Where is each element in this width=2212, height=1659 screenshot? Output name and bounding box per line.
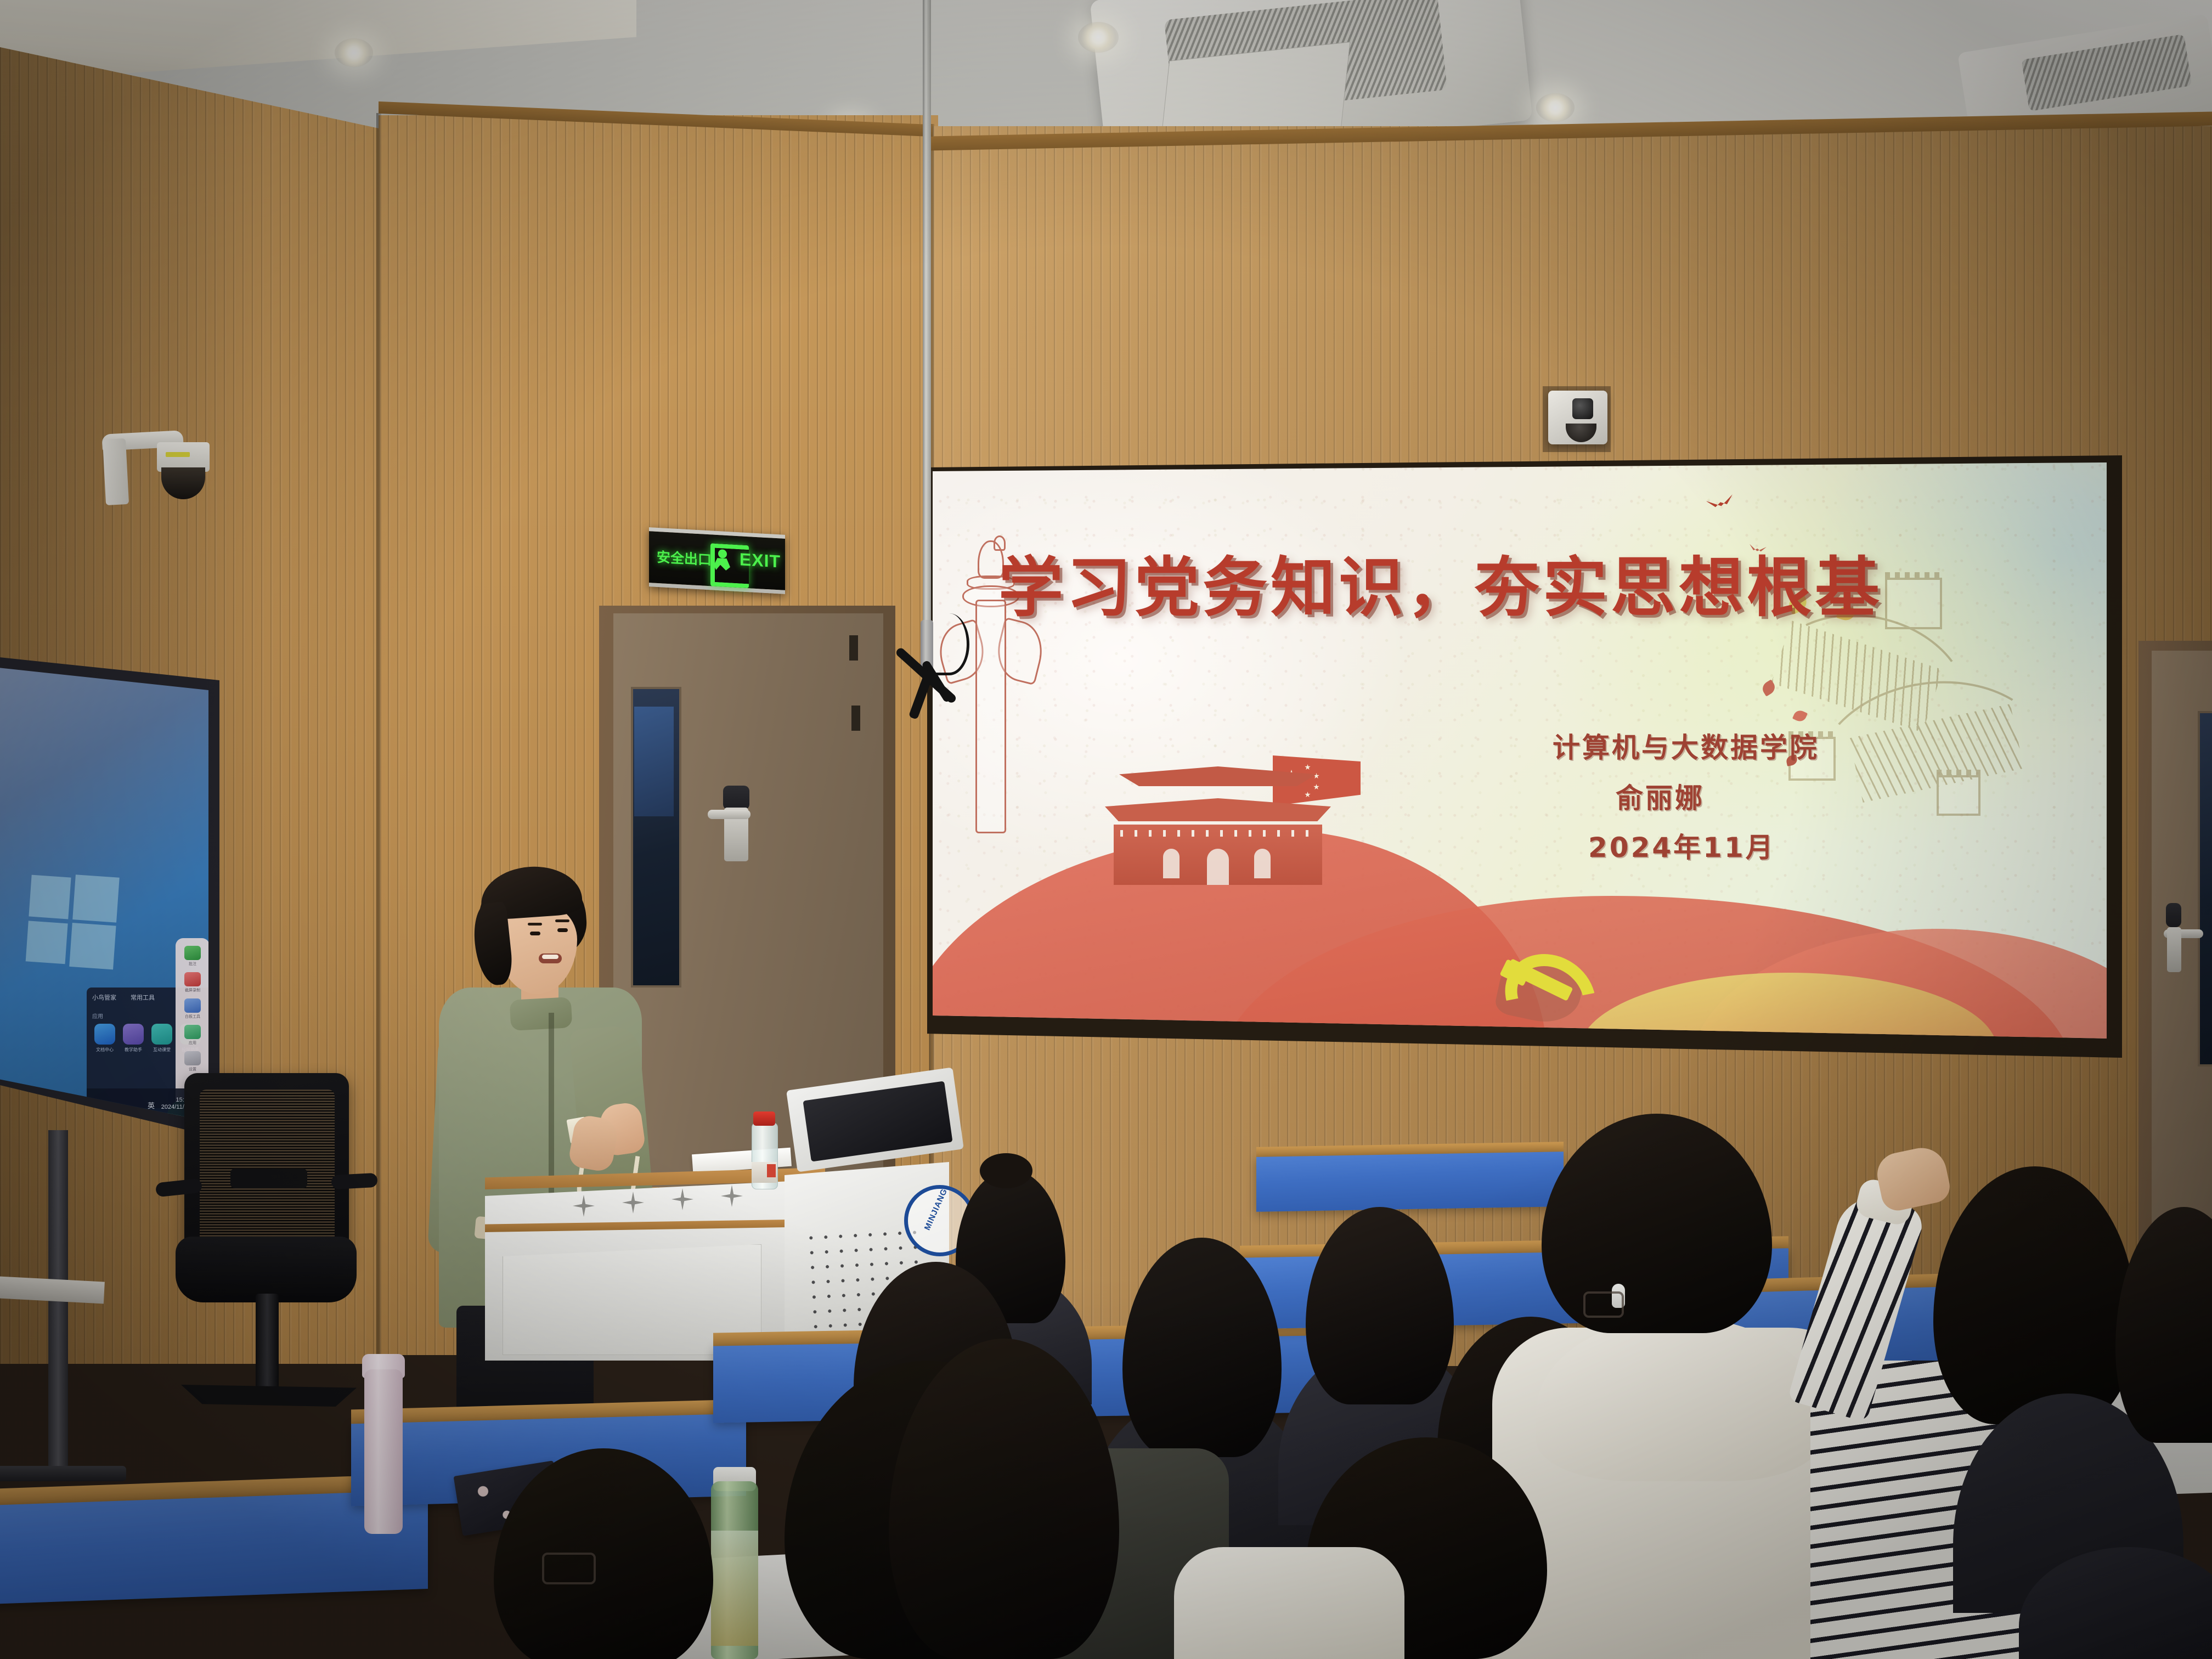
speaker-eye-right: [557, 928, 568, 932]
downlight-3: [1078, 22, 1119, 53]
door-hinge-top: [849, 635, 858, 661]
popup-app-icon-1[interactable]: [94, 1024, 115, 1045]
microphone-cable: [929, 613, 969, 675]
door-card-reader-icon[interactable]: [723, 786, 749, 810]
chair-lumbar-support: [230, 1169, 307, 1188]
cpc-party-emblem-icon: [1498, 947, 1585, 1020]
chair-seat[interactable]: [176, 1237, 357, 1302]
gate-arch-center: [1207, 849, 1229, 885]
slide-subtitle-date: 2024年11月: [1588, 826, 1775, 865]
student-glasses-front-icon: [542, 1553, 596, 1584]
popup-app-label-2: 教学助手: [121, 1047, 145, 1053]
student-white-shirt: [1174, 1547, 1404, 1659]
gate-arch-left: [1163, 849, 1180, 878]
door-window-right: [2198, 711, 2212, 1066]
cctv-wall-plate: [103, 438, 129, 505]
sensor-lens-icon: [1572, 398, 1593, 419]
toolbar-capture-icon[interactable]: [184, 972, 201, 986]
door-hinge-bottom: [851, 706, 860, 731]
toolbar-label-4: 应用: [179, 1040, 206, 1046]
green-tea-label: [711, 1531, 758, 1646]
lecture-hall-photo: 安全出口 EXIT: [0, 0, 2212, 1659]
chair-gas-lift: [256, 1294, 279, 1398]
exit-running-man-head-icon: [718, 549, 727, 558]
popup-title: 小鸟管家: [92, 993, 116, 1002]
exit-sign-chinese-label: 安全出口: [657, 546, 712, 569]
door-window-reflection: [634, 707, 674, 816]
popup-app-label-1: 文档中心: [93, 1047, 117, 1053]
huabiao-shaft: [975, 600, 1006, 833]
popup-subtitle: 常用工具: [131, 993, 155, 1002]
speaker-teeth: [542, 955, 558, 959]
projection-screen: 学习党务知识，夯实思想根基 计算机与大数据学院 俞丽娜 2024年11月: [933, 462, 2107, 1039]
display-stand-foot: [0, 1466, 126, 1481]
popup-app-label-3: 互动课堂: [150, 1047, 174, 1053]
water-bottle-cap: [753, 1111, 775, 1126]
gate-arch-right: [1254, 849, 1271, 878]
student-hair-bun-1: [980, 1153, 1032, 1188]
toolbar-annotate-icon[interactable]: [184, 946, 201, 960]
toolbar-label-2: 截屏录制: [179, 988, 206, 993]
chair-base: [181, 1385, 357, 1407]
toolbar-label-1: 批注: [179, 961, 206, 967]
toolbar-apps-icon[interactable]: [184, 1025, 201, 1039]
popup-app-icon-3[interactable]: [151, 1024, 172, 1045]
speaker-brow-right: [555, 919, 569, 922]
interactive-display-screen[interactable]: 小鸟管家 常用工具 应用 文档中心 教学助手 互动课堂 投屏助手 批注 截屏录制…: [0, 666, 208, 1121]
student-glasses-icon: [1583, 1291, 1624, 1318]
flag-star-3: [1313, 784, 1319, 790]
downlight-5: [1536, 93, 1575, 122]
windows-logo-icon: [25, 872, 119, 971]
water-bottle-label-accent: [767, 1164, 776, 1177]
gate-columns: [1120, 830, 1317, 837]
flag-star-1: [1305, 764, 1311, 770]
door-lock-plate-right: [2167, 927, 2181, 972]
windows-quadrant-1: [29, 875, 71, 919]
exit-sign-english-label: EXIT: [740, 549, 781, 572]
cctv-brand-label: [166, 452, 190, 457]
desk-row1-left: [0, 1490, 428, 1604]
exit-sign: 安全出口 EXIT: [649, 527, 785, 594]
display-stand-column: [48, 1130, 68, 1476]
popup-section-label: 应用: [92, 1012, 103, 1020]
flag-star-4: [1305, 792, 1311, 798]
popup-app-icon-2[interactable]: [123, 1024, 144, 1045]
toolbar-settings-icon[interactable]: [184, 1051, 201, 1065]
slide-subtitle-department: 计算机与大数据学院: [1553, 726, 1819, 765]
chair-armrest-right: [331, 1173, 377, 1189]
flag-star-2: [1313, 773, 1319, 779]
toolbar-label-3: 白板工具: [179, 1014, 206, 1019]
toolbar-whiteboard-icon[interactable]: [184, 998, 201, 1013]
speaker-eye-left: [530, 932, 540, 935]
speaker-brow-left: [528, 923, 542, 926]
desk-row5: [1256, 1152, 1564, 1212]
slide-subtitle-presenter: 俞丽娜: [1616, 776, 1705, 816]
tiananmen-gate-icon: [1097, 748, 1339, 885]
windows-quadrant-3: [26, 921, 68, 964]
microphone-suspension-pole: [923, 0, 931, 647]
downlight-1: [335, 38, 373, 67]
windows-quadrant-4: [69, 923, 116, 969]
pink-thermos-bottle: [364, 1369, 403, 1534]
ime-indicator[interactable]: 英: [148, 1100, 155, 1110]
door-handle-left[interactable]: [708, 810, 751, 819]
speaker-jacket-collar: [510, 997, 573, 1031]
toolbar-label-5: 设置: [179, 1066, 206, 1072]
slide-title: 学习党务知识，夯实思想根基: [998, 535, 1883, 629]
windows-quadrant-2: [72, 874, 120, 922]
door-card-reader-right-icon[interactable]: [2166, 903, 2181, 927]
